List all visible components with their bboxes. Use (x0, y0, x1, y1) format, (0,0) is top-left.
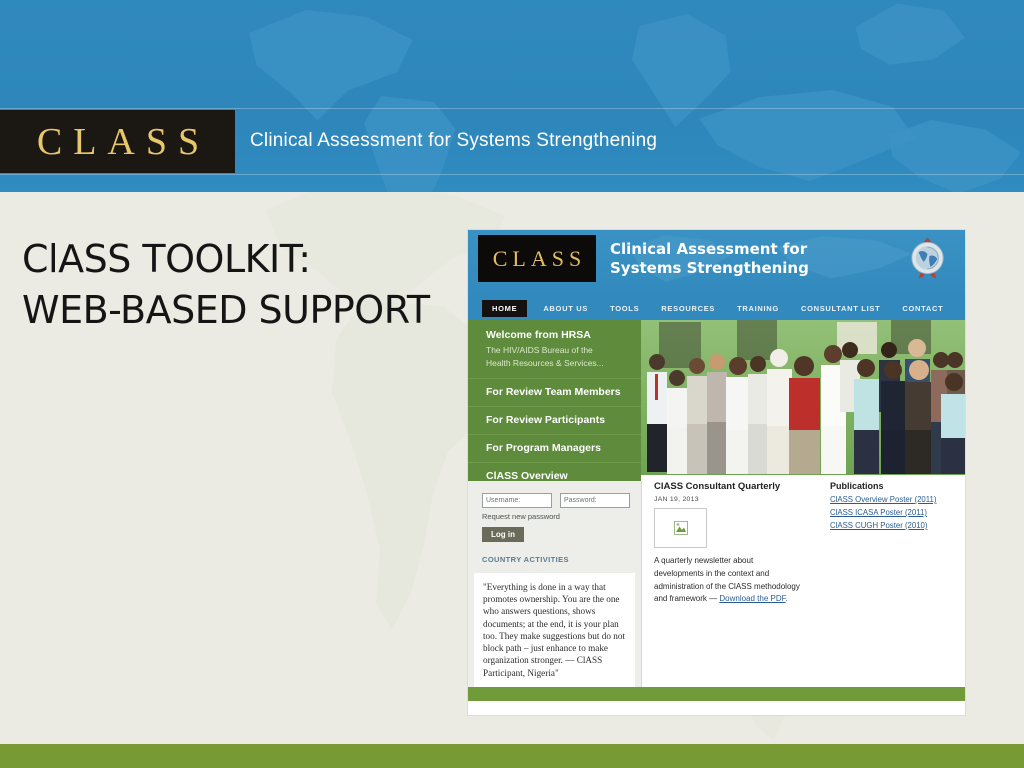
nav-item-resources[interactable]: RESOURCES (655, 301, 721, 316)
broken-image-icon (654, 508, 707, 548)
site-navigation: HOME ABOUT US TOOLS RESOURCES TRAINING C… (468, 296, 965, 322)
photo-people-group (641, 320, 965, 475)
quarterly-newsletter-block: ClASS Consultant Quarterly JAN 19, 2013 … (654, 481, 804, 606)
country-activities-heading: COUNTRY ACTIVITIES (468, 555, 641, 564)
welcome-summary-line-1: The HIV/AIDS Bureau of the (486, 345, 593, 355)
nav-item-training[interactable]: TRAINING (731, 301, 785, 316)
site-sidebar-green: Welcome from HRSA The HIV/AIDS Bureau of… (468, 320, 641, 481)
site-sidebar-lower: Username: Password: Request new password… (468, 481, 642, 701)
hrsa-seal-icon (904, 234, 951, 282)
welcome-summary-line-2: Health Resources & Services... (486, 358, 604, 368)
username-input[interactable]: Username: (482, 493, 552, 508)
sidebar-item-program-managers[interactable]: For Program Managers (468, 434, 641, 462)
class-logo-block: CLASS (0, 110, 235, 173)
download-pdf-link[interactable]: Download the PDF (719, 594, 785, 603)
welcome-title: Welcome from HRSA (486, 329, 631, 341)
page-title-line-2: WEB-BASED SUPPORT (22, 285, 452, 336)
site-header: CLASS Clinical Assessment for Systems St… (468, 230, 965, 296)
header-map-shape-5 (880, 120, 1024, 192)
header-map-shape-6 (840, 0, 970, 90)
log-in-button[interactable]: Log in (482, 527, 524, 542)
quarterly-date: JAN 19, 2013 (654, 496, 804, 503)
welcome-summary: The HIV/AIDS Bureau of the Health Resour… (486, 344, 631, 370)
header-map-shape-3 (620, 14, 740, 134)
publication-link-class-cugh-poster[interactable]: ClASS CUGH Poster (2010) (830, 521, 960, 530)
password-input[interactable]: Password: (560, 493, 630, 508)
site-title-line-1: Clinical Assessment for (610, 240, 807, 258)
welcome-block[interactable]: Welcome from HRSA The HIV/AIDS Bureau of… (468, 320, 641, 378)
nav-item-consultant-list[interactable]: CONSULTANT LIST (795, 301, 886, 316)
sidebar-item-review-participants[interactable]: For Review Participants (468, 406, 641, 434)
site-logo-text: CLASS (488, 246, 586, 272)
login-form: Username: Password: (468, 481, 641, 508)
quarterly-title: ClASS Consultant Quarterly (654, 481, 804, 492)
site-logo-block[interactable]: CLASS (478, 235, 596, 282)
quarterly-body: A quarterly newsletter about development… (654, 555, 804, 606)
header-map-shape-4 (690, 90, 920, 192)
site-footer-bar (468, 687, 965, 701)
slide-footer-bar (0, 744, 1024, 768)
publication-link-class-icasa-poster[interactable]: ClASS ICASA Poster (2011) (830, 508, 960, 517)
page-title: ClASS TOOLKIT: WEB-BASED SUPPORT (22, 234, 452, 335)
nav-item-tools[interactable]: TOOLS (604, 301, 645, 316)
page-title-line-1: ClASS TOOLKIT: (22, 237, 311, 281)
group-photo (641, 320, 965, 475)
sidebar-item-review-team-members[interactable]: For Review Team Members (468, 378, 641, 406)
publication-link-class-overview-poster[interactable]: ClASS Overview Poster (2011) (830, 495, 960, 504)
quarterly-body-period: . (786, 594, 788, 603)
header-rule-top (0, 108, 1024, 109)
publications-title: Publications (830, 481, 960, 491)
presentation-slide: CLASS Clinical Assessment for Systems St… (0, 0, 1024, 768)
slide-header-band: CLASS Clinical Assessment for Systems St… (0, 0, 1024, 192)
request-new-password-link[interactable]: Request new password (468, 512, 641, 521)
site-body: Welcome from HRSA The HIV/AIDS Bureau of… (468, 320, 965, 701)
nav-item-contact[interactable]: CONTACT (896, 301, 949, 316)
site-title-line-2: Systems Strengthening (610, 259, 809, 277)
class-logo-text: CLASS (25, 120, 210, 164)
header-tagline: Clinical Assessment for Systems Strength… (250, 130, 657, 152)
nav-item-home[interactable]: HOME (482, 300, 527, 317)
nav-item-about-us[interactable]: ABOUT US (537, 301, 594, 316)
header-rule-bottom (0, 174, 1024, 175)
embedded-website-screenshot: CLASS Clinical Assessment for Systems St… (468, 230, 965, 715)
testimonial-quote: "Everything is done in a way that promot… (483, 581, 628, 679)
site-title: Clinical Assessment for Systems Strength… (610, 240, 840, 278)
publications-block: Publications ClASS Overview Poster (2011… (830, 481, 960, 530)
site-content-area: ClASS Consultant Quarterly JAN 19, 2013 … (642, 475, 965, 701)
